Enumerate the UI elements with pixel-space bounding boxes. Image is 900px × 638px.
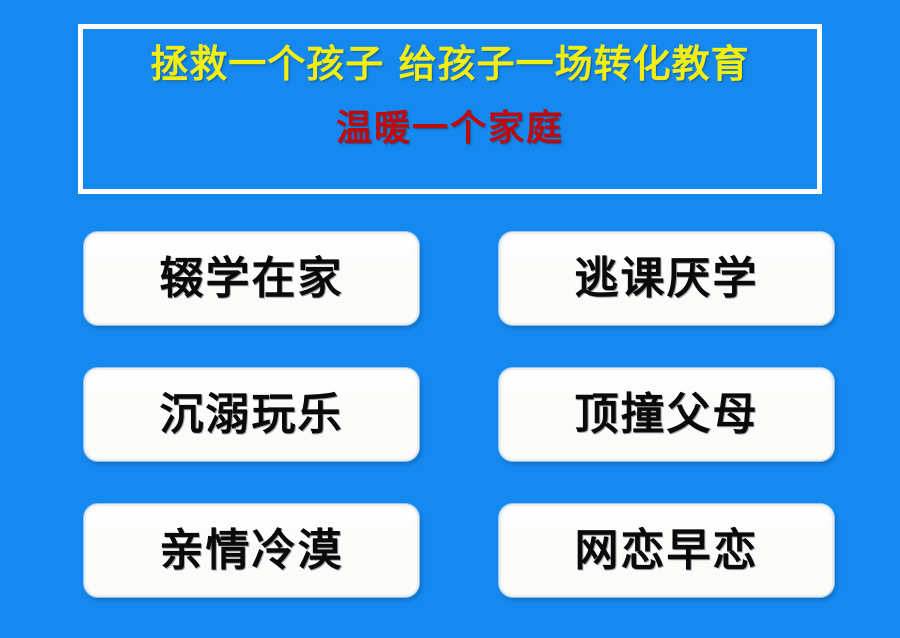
issue-card[interactable]: 亲情冷漠 [84, 504, 419, 597]
issue-card-label: 亲情冷漠 [160, 529, 344, 573]
issue-card[interactable]: 顶撞父母 [499, 368, 834, 461]
issue-card[interactable]: 网恋早恋 [499, 504, 834, 597]
poster-root: 拯救一个孩子 给孩子一场转化教育 温暖一个家庭 辍学在家 逃课厌学 沉溺玩乐 顶… [0, 0, 900, 638]
title-line-primary: 拯救一个孩子 给孩子一场转化教育 [150, 45, 749, 83]
issue-card[interactable]: 逃课厌学 [499, 232, 834, 325]
issue-card[interactable]: 辍学在家 [84, 232, 419, 325]
title-banner: 拯救一个孩子 给孩子一场转化教育 温暖一个家庭 [78, 24, 822, 194]
issue-card[interactable]: 沉溺玩乐 [84, 368, 419, 461]
issue-card-label: 逃课厌学 [575, 257, 759, 301]
issue-card-label: 辍学在家 [160, 257, 344, 301]
issue-card-label: 沉溺玩乐 [160, 393, 344, 437]
issue-card-label: 网恋早恋 [575, 529, 759, 573]
issue-card-grid: 辍学在家 逃课厌学 沉溺玩乐 顶撞父母 亲情冷漠 网恋早恋 [84, 232, 834, 607]
title-line-secondary: 温暖一个家庭 [336, 111, 564, 147]
issue-card-label: 顶撞父母 [575, 393, 759, 437]
